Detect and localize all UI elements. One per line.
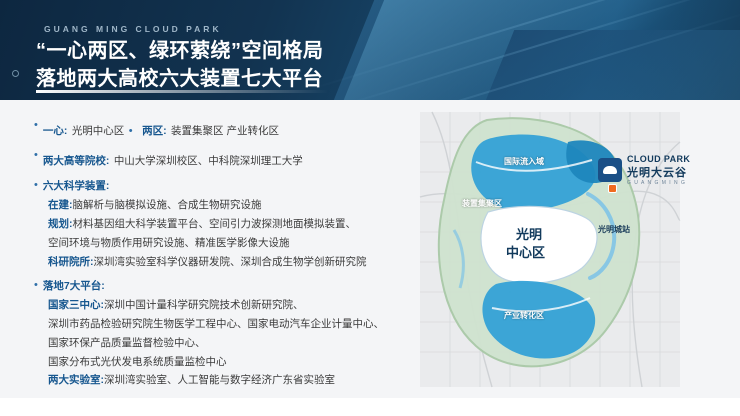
map-label-industry-transformation-zone: 产业转化区 bbox=[504, 310, 544, 321]
group-facilities: • 六大科学装置: 在建: 脑解析与脑模拟设施、合成生物研究设施 规划: 材料基… bbox=[34, 178, 384, 270]
facility-item-text: 脑解析与脑模拟设施、合成生物研究设施 bbox=[73, 198, 262, 214]
platforms-items: 国家三中心: 深圳中国计量科学研究院技术创新研究院、 深圳市药品检验研究院生物医… bbox=[48, 298, 384, 389]
zones-label: 两区: bbox=[142, 125, 167, 137]
map-label-central-district: 中心区 bbox=[506, 242, 545, 261]
logo-english-name: CLOUD PARK bbox=[627, 154, 690, 164]
row-core-and-zones: • 一心: 光明中心区 • 两区: 装置集聚区 产业转化区 bbox=[34, 118, 384, 141]
list-item: 科研院所: 深圳湾实验室科学仪器研发院、深圳合成生物学创新研究院 bbox=[48, 255, 384, 271]
row-universities: • 两大高等院校: 中山大学深圳校区、中科院深圳理工大学 bbox=[34, 148, 384, 171]
core-label: 一心: bbox=[43, 125, 68, 137]
list-item: 空间环境与物质作用研究设施、精准医学影像大设施 bbox=[48, 236, 384, 252]
facilities-items: 在建: 脑解析与脑模拟设施、合成生物研究设施 规划: 材料基因组大科学装置平台、… bbox=[48, 198, 384, 270]
map-label-guangming: 光明 bbox=[516, 224, 542, 243]
facility-item-key: 在建: bbox=[48, 198, 73, 214]
list-item: 规划: 材料基因组大科学装置平台、空间引力波探测地面模拟装置、 bbox=[48, 217, 384, 233]
list-item: 国家分布式光伏发电系统质量监检中心 bbox=[48, 355, 384, 371]
list-item: 国家环保产品质量监督检验中心、 bbox=[48, 336, 384, 352]
universities-label: 两大高等院校: bbox=[43, 155, 110, 167]
bottom-strip bbox=[0, 398, 740, 416]
map-label-international-zone: 国际流入域 bbox=[504, 156, 544, 167]
page-title-line-1: “一心两区、绿环萦绕”空间格局 bbox=[36, 34, 324, 63]
logo-chinese-name: 光明大云谷 bbox=[627, 164, 690, 180]
platform-item-text: 深圳中国计量科学研究院技术创新研究院、 bbox=[104, 298, 304, 314]
platform-item-key: 国家三中心: bbox=[48, 298, 104, 314]
bullet-dot-icon-3: • bbox=[34, 148, 38, 163]
platform-item-key: 两大实验室: bbox=[48, 373, 104, 389]
group-platforms: • 落地7大平台: 国家三中心: 深圳中国计量科学研究院技术创新研究院、 深圳市… bbox=[34, 278, 384, 389]
facility-item-key: 科研院所: bbox=[48, 255, 94, 271]
list-item: 深圳市药品检验研究院生物医学工程中心、国家电动汽车企业计量中心、 bbox=[48, 317, 384, 333]
text-column: • 一心: 光明中心区 • 两区: 装置集聚区 产业转化区 • 两大高等院校: … bbox=[34, 118, 384, 397]
map-label-guangmingcheng-station: 光明城站 bbox=[598, 224, 630, 235]
facility-item-text: 深圳湾实验室科学仪器研发院、深圳合成生物学创新研究院 bbox=[94, 255, 367, 271]
platform-item-text: 深圳湾实验室、人工智能与数字经济广东省实验室 bbox=[104, 373, 335, 389]
page-title-line-2: 落地两大高校六大装置七大平台 bbox=[36, 62, 323, 91]
platforms-label: 落地7大平台: bbox=[43, 278, 105, 293]
facility-item-text: 空间环境与物质作用研究设施、精准医学影像大设施 bbox=[48, 236, 290, 252]
bullet-dot-icon-2: • bbox=[129, 125, 133, 137]
universities-value: 中山大学深圳校区、中科院深圳理工大学 bbox=[114, 155, 303, 167]
platform-item-text: 国家环保产品质量监督检验中心、 bbox=[48, 336, 206, 352]
header-bullet-dot-icon bbox=[12, 70, 19, 77]
list-item: 国家三中心: 深圳中国计量科学研究院技术创新研究院、 bbox=[48, 298, 384, 314]
facility-item-key: 规划: bbox=[48, 217, 73, 233]
slide-header: GUANG MING CLOUD PARK “一心两区、绿环萦绕”空间格局 落地… bbox=[0, 0, 740, 100]
map-figure: 国际流入域 装置集聚区 光明 中心区 光明城站 产业转化区 CLOUD PARK… bbox=[392, 102, 722, 402]
bullet-dot-icon-4: • bbox=[34, 178, 38, 193]
slide-body: • 一心: 光明中心区 • 两区: 装置集聚区 产业转化区 • 两大高等院校: … bbox=[0, 100, 740, 416]
bullet-dot-icon-5: • bbox=[34, 278, 38, 293]
map-label-facility-cluster-zone: 装置集聚区 bbox=[462, 198, 502, 209]
facilities-label: 六大科学装置: bbox=[43, 178, 110, 193]
cloud-park-logo: CLOUD PARK 光明大云谷 G U A N G M I N G bbox=[598, 152, 720, 188]
facility-item-text: 材料基因组大科学装置平台、空间引力波探测地面模拟装置、 bbox=[73, 217, 357, 233]
platform-item-text: 深圳市药品检验研究院生物医学工程中心、国家电动汽车企业计量中心、 bbox=[48, 317, 384, 333]
platforms-heading: • 落地7大平台: bbox=[34, 278, 384, 293]
list-item: 两大实验室: 深圳湾实验室、人工智能与数字经济广东省实验室 bbox=[48, 373, 384, 389]
list-item: 在建: 脑解析与脑模拟设施、合成生物研究设施 bbox=[48, 198, 384, 214]
map-graphic bbox=[392, 102, 722, 402]
platform-item-text: 国家分布式光伏发电系统质量监检中心 bbox=[48, 355, 227, 371]
slide-root: GUANG MING CLOUD PARK “一心两区、绿环萦绕”空间格局 落地… bbox=[0, 0, 740, 416]
logo-subtitle: G U A N G M I N G bbox=[627, 180, 690, 186]
title-underline bbox=[36, 90, 328, 93]
cloud-icon bbox=[598, 158, 622, 182]
core-value: 光明中心区 bbox=[72, 125, 125, 137]
header-eyebrow: GUANG MING CLOUD PARK bbox=[44, 24, 222, 34]
zones-value: 装置集聚区 产业转化区 bbox=[171, 125, 279, 137]
facilities-heading: • 六大科学装置: bbox=[34, 178, 384, 193]
bullet-dot-icon: • bbox=[34, 118, 38, 133]
